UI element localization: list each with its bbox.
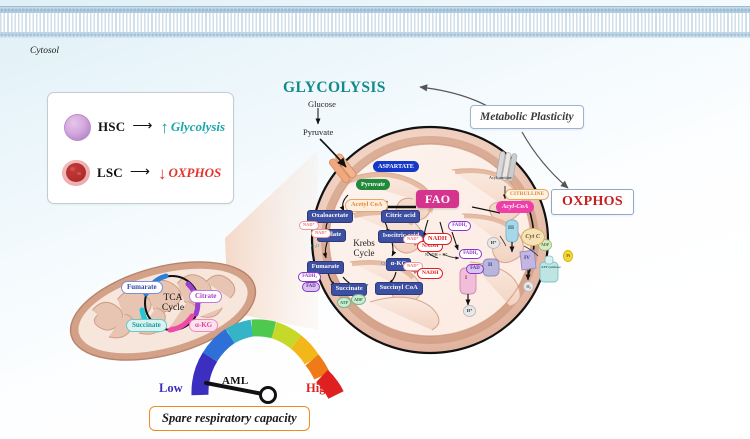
krebs-line-2: Cycle xyxy=(354,248,375,258)
krebs-cycle-label: Krebs Cycle xyxy=(345,238,383,259)
inset-chip-alpha-kg: α-KG xyxy=(189,319,218,332)
label-co2-2: CO₂ xyxy=(381,261,389,266)
inset-chip-citrate: Citrate xyxy=(189,290,222,303)
chip-fadh2-1: FADH₂ xyxy=(298,272,321,282)
tca-line-2: Cycle xyxy=(162,303,184,313)
chip-succinyl-coa: Succinyl CoA xyxy=(375,282,423,295)
chip-nadh-2: NADH xyxy=(417,268,443,279)
label-complex-ii: II xyxy=(488,263,492,268)
gauge-label-high: High xyxy=(306,381,332,396)
diagram-vector-layer xyxy=(0,0,750,439)
gauge-pivot xyxy=(261,388,276,403)
label-co2-1: CO₂ xyxy=(381,235,389,240)
chip-adp: ADP xyxy=(351,294,366,305)
chip-nad-2: NAD⁺ xyxy=(311,229,331,238)
acylcarnitine-label: Acylcarnitine xyxy=(489,175,512,180)
gauge-marker-aml: AML xyxy=(222,375,249,387)
chip-fadh2-fao: FADH₂ xyxy=(448,221,471,231)
fao-label: FAO xyxy=(416,190,459,208)
label-h2o: H₂O xyxy=(311,243,319,248)
chip-fad-2: FAD xyxy=(466,264,484,274)
chip-h-plus-1: H⁺ xyxy=(487,237,500,249)
chip-nadh-fao: NADH xyxy=(423,233,452,245)
label-complex-iv: IV xyxy=(524,256,530,261)
metabolic-plasticity-callout: Metabolic Plasticity xyxy=(470,105,584,129)
label-complex-iii: III xyxy=(508,226,514,231)
figure-canvas: Cytosol HSC ⟶ ↑ Glycolysis LSC ⟶ ↓ OXPHO… xyxy=(0,0,750,439)
oxphos-callout: OXPHOS xyxy=(551,189,634,215)
inset-tca-cycle-label: TCA Cycle xyxy=(153,293,193,314)
label-complex-i: I xyxy=(465,276,467,281)
inset-chip-succinate: Succinate xyxy=(126,319,167,332)
chip-fadh2-2: FADH₂ xyxy=(459,249,482,259)
chip-pyruvate-matrix: Pyruvate xyxy=(356,179,390,190)
chip-citrulline: CITRULLINE xyxy=(505,189,549,200)
gauge-label-low: Low xyxy=(159,381,183,396)
spare-respiratory-capacity-callout: Spare respiratory capacity xyxy=(149,406,310,431)
label-atp-synthase: ATP synthase xyxy=(541,266,557,270)
chip-acyl-coa: Acyl-CoA xyxy=(496,201,534,213)
chip-aspartate: ASPARTATE xyxy=(373,161,419,172)
krebs-line-1: Krebs xyxy=(353,238,375,248)
chip-h-plus-2: H⁺ xyxy=(463,305,476,317)
chip-fad-1: FAD xyxy=(302,282,320,292)
tca-line-1: TCA xyxy=(164,293,183,303)
chip-citric-acid: Citric acid xyxy=(381,210,420,223)
chip-cytochrome-c: Cyt C xyxy=(521,228,545,246)
label-nadh-h: NADH + H⁺ xyxy=(425,252,448,258)
